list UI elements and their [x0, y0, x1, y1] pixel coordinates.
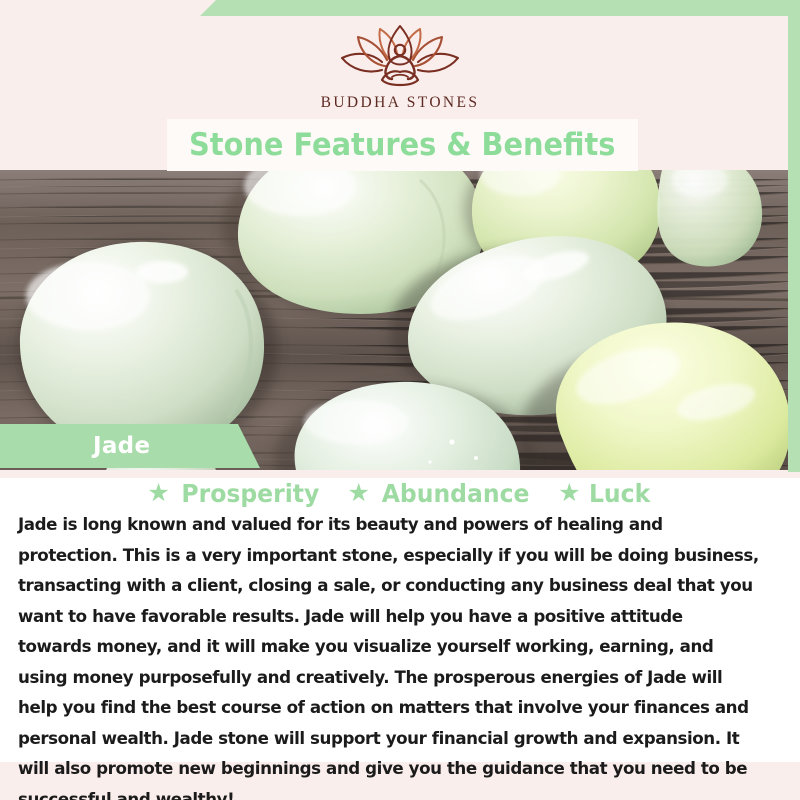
star-icon: ★ [147, 481, 169, 506]
benefit-item-prosperity: ★ Prosperity [147, 479, 323, 508]
poster-root: BUDDHA STONES Stone Features & Benefits [0, 0, 800, 800]
title-banner: Stone Features & Benefits [167, 119, 638, 171]
benefits-row: ★ Prosperity ★ Abundance ★ Luck [0, 479, 800, 508]
star-icon: ★ [558, 481, 580, 506]
star-icon: ★ [347, 481, 369, 506]
stone-name-label: Jade [93, 433, 150, 459]
lotus-meditation-icon [330, 24, 470, 88]
benefit-label: Luck [589, 479, 650, 508]
page-title: Stone Features & Benefits [189, 127, 615, 163]
benefit-label: Prosperity [181, 479, 319, 508]
stone-description-text: Jade is long known and valued for its be… [18, 510, 761, 800]
stone-name-banner: Jade [0, 424, 260, 468]
brand-name: BUDDHA STONES [321, 94, 480, 112]
benefit-item-abundance: ★ Abundance [347, 479, 534, 508]
benefit-label: Abundance [382, 479, 530, 508]
benefit-item-luck: ★ Luck [558, 479, 653, 508]
brand-logo: BUDDHA STONES [0, 24, 800, 112]
